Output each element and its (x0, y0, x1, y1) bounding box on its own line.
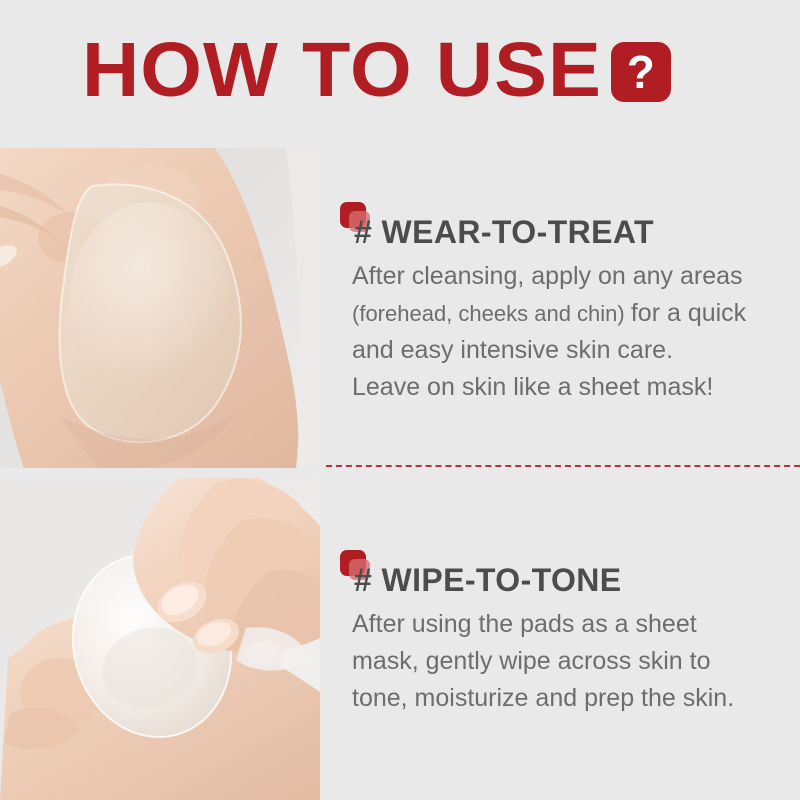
body-line: After using the pads as a sheet (352, 606, 792, 643)
how-to-use-infographic: HOW TO USE ? (0, 0, 800, 800)
body-line: and easy intensive skin care. (352, 332, 792, 369)
body-line: (forehead, cheeks and chin) for a quick (352, 295, 792, 332)
section-wear-to-treat: # WEAR-TO-TREAT After cleansing, apply o… (340, 200, 792, 406)
photo-wipe-to-tone (0, 478, 320, 800)
section-body-wipe-to-tone: After using the pads as a sheet mask, ge… (340, 606, 792, 717)
section-title-wear-to-treat: # WEAR-TO-TREAT (354, 214, 654, 251)
photo-wear-to-treat (0, 148, 320, 468)
section-heading-wear-to-treat: # WEAR-TO-TREAT (340, 200, 792, 252)
section-body-wear-to-treat: After cleansing, apply on any areas (for… (340, 258, 792, 406)
hand-with-gel-pad-image (0, 148, 320, 468)
question-mark-glyph: ? (627, 49, 655, 95)
section-heading-wipe-to-tone: # WIPE-TO-TONE (340, 548, 792, 600)
section-title-wipe-to-tone: # WIPE-TO-TONE (354, 562, 622, 599)
body-line: After cleansing, apply on any areas (352, 258, 792, 295)
question-mark-icon: ? (611, 42, 671, 102)
body-line: Leave on skin like a sheet mask! (352, 369, 792, 406)
body-line: tone, moisturize and prep the skin. (352, 680, 792, 717)
section-divider (326, 465, 800, 467)
body-line-tail: for a quick (631, 299, 746, 327)
body-line: mask, gently wipe across skin to (352, 643, 792, 680)
body-line-small: (forehead, cheeks and chin) (352, 301, 631, 326)
page-title-bar: HOW TO USE ? (82, 28, 671, 112)
fingers-wiping-pad-image (0, 478, 320, 800)
section-wipe-to-tone: # WIPE-TO-TONE After using the pads as a… (340, 548, 792, 717)
page-title: HOW TO USE (82, 28, 602, 112)
